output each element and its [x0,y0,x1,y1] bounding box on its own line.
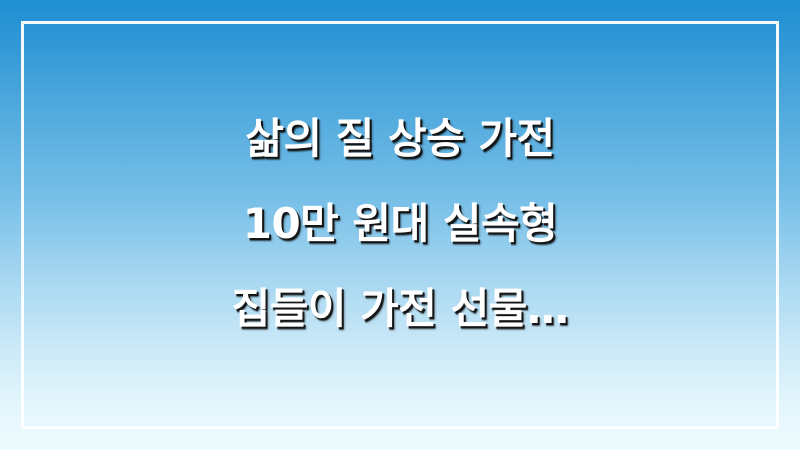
headline-line-2: 10만 원대 실속형 [0,181,800,266]
promo-card: 삶의 질 상승 가전 10만 원대 실속형 집들이 가전 선물… [0,0,800,450]
headline-block: 삶의 질 상승 가전 10만 원대 실속형 집들이 가전 선물… [0,96,800,351]
headline-line-3: 집들이 가전 선물… [0,266,800,351]
headline-line-1: 삶의 질 상승 가전 [0,96,800,181]
